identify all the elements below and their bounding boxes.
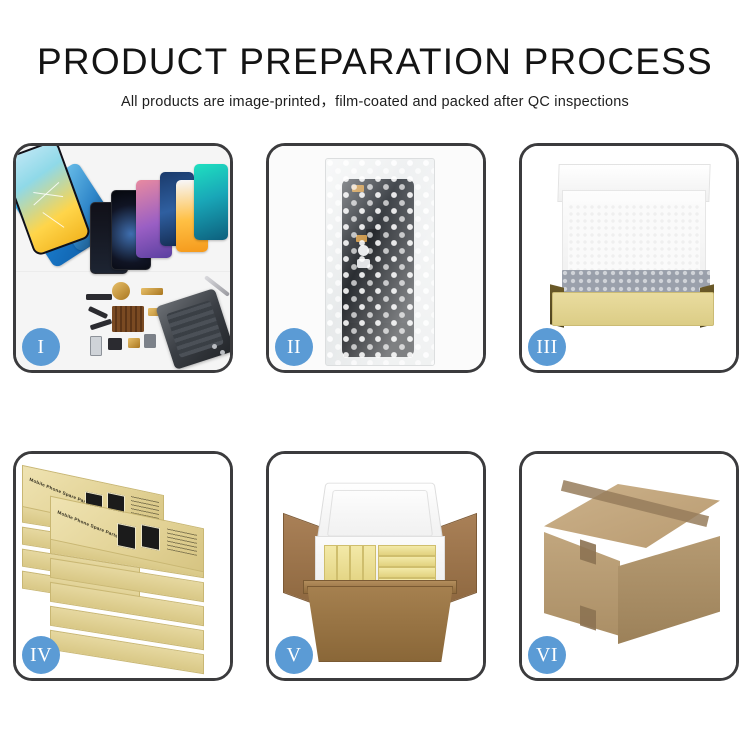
box-label-front: Mobile Phone Spare Parts [57,510,118,539]
component-battery-icon [90,336,102,356]
component-flex-gold-icon [141,288,163,295]
page-header: PRODUCT PREPARATION PROCESS All products… [0,0,750,130]
phone-display-teal-icon [194,164,228,240]
step-badge-1: I [22,328,60,366]
box-front-panel-icon [552,292,714,326]
component-camera-lens-icon [112,282,130,300]
component-speaker-icon [86,294,112,300]
component-logic-board-icon [112,306,144,332]
component-screws-2-icon [220,350,225,355]
process-step-grid: I II [13,143,740,683]
step-panel-5[interactable]: V [266,451,486,681]
packed-box-7 [378,567,436,578]
step-badge-6: VI [528,636,566,674]
component-vibrator-icon [108,338,122,350]
white-foam-sheet-icon [568,204,700,272]
component-shield-icon [144,334,156,348]
box-window-front-1 [117,523,136,550]
box-window-front-2 [141,524,160,551]
step-panel-1[interactable]: I [13,143,233,373]
step-badge-2: II [275,328,313,366]
packed-box-6 [378,556,436,567]
step-panel-2[interactable]: II [266,143,486,373]
box-spec-lines-front [167,528,197,556]
page-subtitle: All products are image-printed，film-coat… [0,84,750,111]
step-badge-4: IV [22,636,60,674]
step-panel-3[interactable]: III [519,143,739,373]
page-title: PRODUCT PREPARATION PROCESS [0,0,750,84]
step-badge-5: V [275,636,313,674]
step-panel-6[interactable]: VI [519,451,739,681]
component-sim-tray-icon [128,338,140,348]
bubble-wrap-bag-icon [325,158,435,366]
packed-box-5 [378,545,436,556]
step-panel-4[interactable]: Mobile Phone Spare Parts Mobile Phone Sp… [13,451,233,681]
carton-body-icon [307,586,453,662]
step-badge-3: III [528,328,566,366]
component-screws-icon [212,344,217,349]
